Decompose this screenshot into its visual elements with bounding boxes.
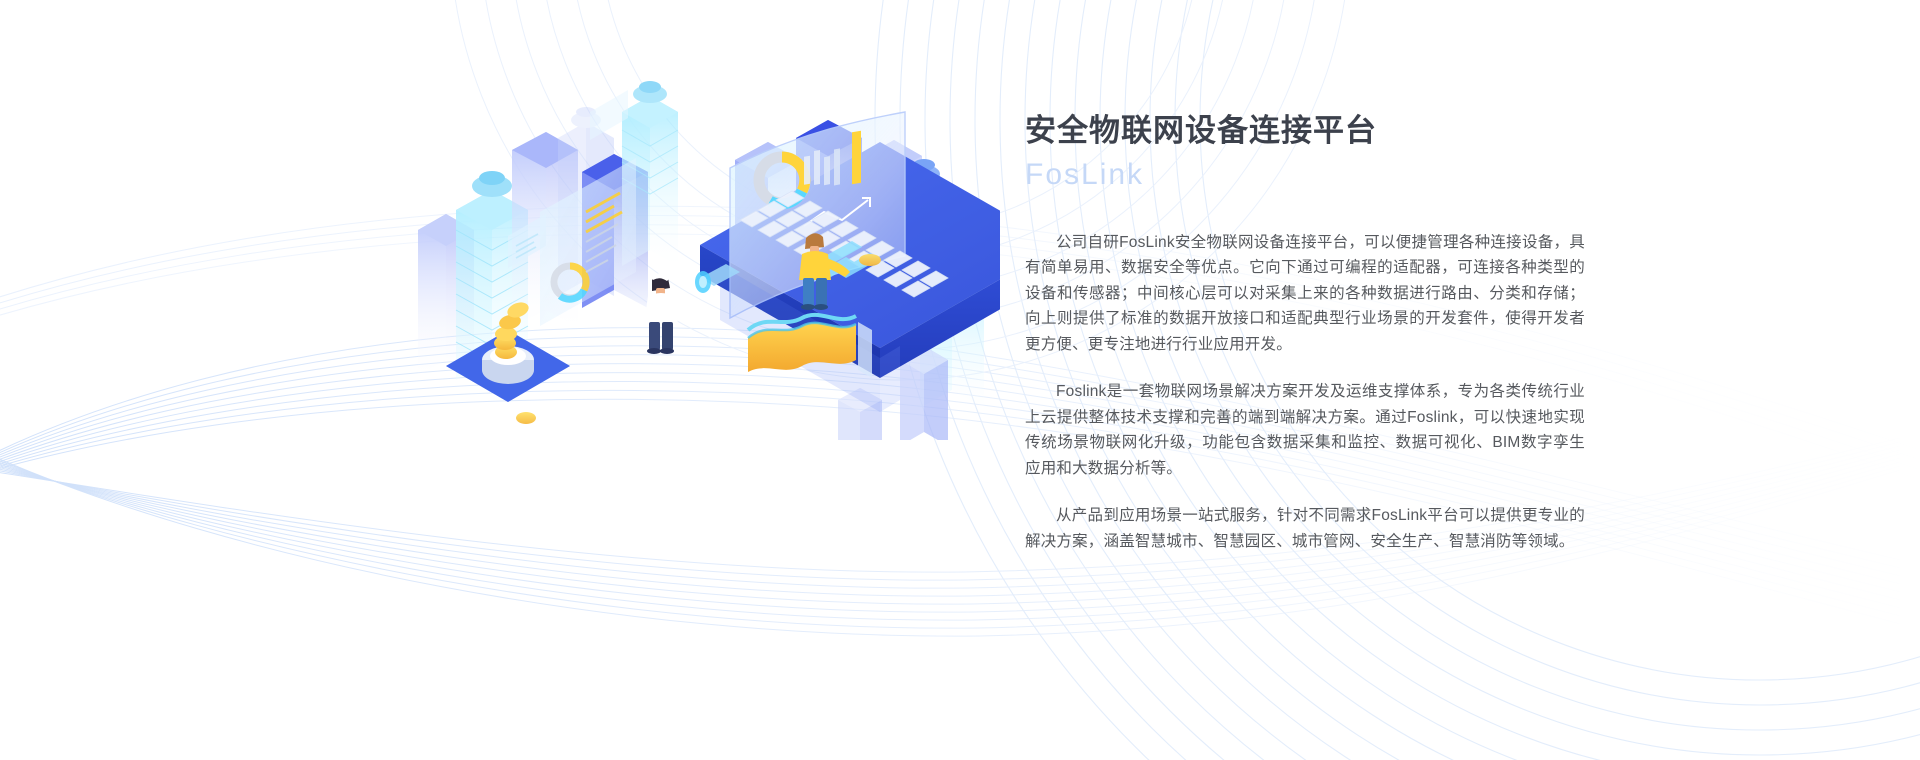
hero-text-column: 安全物联网设备连接平台 FosLink 公司自研FosLink安全物联网设备连接… (1025, 112, 1585, 554)
hero-illustration (400, 60, 1000, 440)
paragraph-3: 从产品到应用场景一站式服务，针对不同需求FosLink平台可以提供更专业的解决方… (1025, 503, 1585, 554)
coin-icon (516, 412, 536, 424)
coin-icon (859, 254, 881, 266)
page-root: 安全物联网设备连接平台 FosLink 公司自研FosLink安全物联网设备连接… (0, 0, 1920, 760)
paragraph-1: 公司自研FosLink安全物联网设备连接平台，可以便捷管理各种连接设备，具有简单… (1025, 230, 1585, 358)
worker-figure-white (644, 273, 692, 354)
page-subtitle: FosLink (1025, 155, 1585, 194)
page-title: 安全物联网设备连接平台 (1025, 112, 1585, 151)
body-copy: 公司自研FosLink安全物联网设备连接平台，可以便捷管理各种连接设备，具有简单… (1025, 230, 1585, 555)
paragraph-2: Foslink是一套物联网场景解决方案开发及运维支撑体系，专为各类传统行业上云提… (1025, 379, 1585, 481)
